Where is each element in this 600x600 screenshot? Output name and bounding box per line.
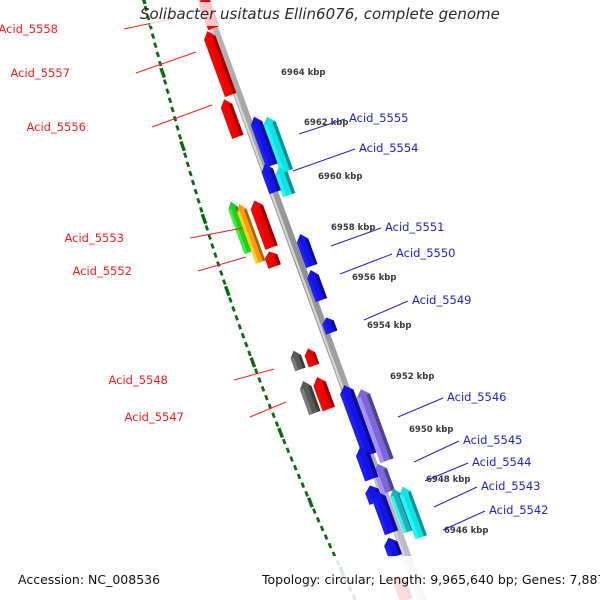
scale-tick-label-0: 6964 kbp (281, 68, 325, 78)
gene-Acid_5548[interactable] (288, 349, 305, 372)
leader-line-Acid_5554 (293, 149, 355, 171)
tick-mark (245, 342, 247, 347)
gene-label-Acid_5545[interactable]: Acid_5545 (463, 433, 523, 447)
tick-mark (291, 457, 293, 462)
tick-mark (249, 351, 251, 356)
tick-mark (229, 298, 231, 303)
tick-mark (152, 34, 154, 39)
leader-line-Acid_5553 (190, 228, 243, 238)
gene-label-Acid_5556[interactable]: Acid_5556 (27, 120, 87, 134)
leader-line-Acid_5546 (398, 398, 443, 417)
tick-mark (161, 68, 164, 77)
tick-mark (154, 43, 156, 48)
gene-label-Acid_5550[interactable]: Acid_5550 (396, 246, 456, 260)
leader-line-Acid_5548 (234, 369, 274, 380)
gene-label-Acid_5548[interactable]: Acid_5548 (109, 373, 169, 387)
tick-mark (215, 253, 217, 258)
tick-mark (321, 526, 323, 531)
tick-mark (217, 262, 219, 267)
gene-label-Acid_5542[interactable]: Acid_5542 (489, 503, 549, 517)
scale-tick-label-4: 6956 kbp (352, 273, 396, 283)
tick-mark (223, 280, 225, 285)
gene-label-Acid_5547[interactable]: Acid_5547 (125, 410, 185, 424)
tick-mark (313, 509, 315, 514)
tick-mark (177, 125, 179, 130)
scale-tick-label-6: 6952 kbp (390, 372, 434, 382)
genome-map-svg[interactable]: 6964 kbp6962 kbp6960 kbp6958 kbp6956 kbp… (0, 0, 600, 600)
leader-line-Acid_5556 (152, 105, 212, 127)
tick-mark (298, 474, 300, 479)
gene-label-Acid_5546[interactable]: Acid_5546 (447, 390, 507, 404)
leader-line-Acid_5549 (364, 301, 408, 320)
leader-line-Acid_5543 (434, 487, 477, 507)
gene-g_red_mid2[interactable] (263, 249, 281, 268)
gene-label-Acid_5557[interactable]: Acid_5557 (11, 66, 71, 80)
gene-label-Acid_5552[interactable]: Acid_5552 (73, 264, 133, 278)
tick-mark (325, 535, 327, 540)
leader-line-Acid_5557 (136, 52, 196, 73)
tick-mark (306, 491, 308, 496)
gene-label-Acid_5551[interactable]: Acid_5551 (385, 220, 445, 234)
tick-mark (255, 369, 257, 374)
tick-mark (279, 428, 282, 437)
leader-line-Acid_5550 (340, 254, 392, 274)
gene-label-Acid_5544[interactable]: Acid_5544 (472, 455, 532, 469)
tick-mark (226, 286, 229, 295)
tick-mark (317, 517, 319, 522)
tick-mark (198, 198, 200, 203)
tick-mark (167, 89, 169, 94)
scale-tick-label-2: 6960 kbp (318, 172, 362, 182)
tick-mark (169, 98, 171, 103)
tick-mark (287, 448, 289, 453)
leader-line-Acid_5552 (198, 257, 246, 271)
gene-g_red_548[interactable] (303, 347, 320, 368)
tick-mark (212, 244, 214, 249)
tick-mark (239, 324, 241, 329)
tick-mark (159, 61, 161, 66)
scale-tick-label-7: 6950 kbp (409, 425, 453, 435)
scale-tick-label-9: 6946 kbp (444, 526, 488, 536)
tick-mark (142, 0, 145, 4)
gene-label-Acid_5549[interactable]: Acid_5549 (412, 293, 472, 307)
tick-mark (236, 315, 238, 320)
gene-labels[interactable]: Acid_5558Acid_5557Acid_5556Acid_5553Acid… (0, 22, 549, 517)
tick-mark (283, 439, 285, 444)
scale-tick-label-5: 6954 kbp (367, 321, 411, 331)
tick-mark (202, 214, 205, 223)
tick-mark (187, 162, 189, 167)
tick-mark (164, 80, 166, 85)
tick-mark (262, 386, 264, 391)
tick-mark (184, 153, 186, 158)
tick-mark (266, 395, 268, 400)
tick-mark (206, 226, 208, 231)
tick-mark (209, 235, 211, 240)
scale-tick-label-8: 6948 kbp (426, 475, 470, 485)
gene-label-Acid_5555[interactable]: Acid_5555 (349, 111, 409, 125)
gene-label-Acid_5554[interactable]: Acid_5554 (359, 141, 419, 155)
tick-mark (309, 498, 312, 507)
tick-mark (329, 543, 331, 548)
tick-mark (233, 306, 235, 311)
tick-mark (200, 207, 202, 212)
tick-mark (181, 141, 184, 150)
tick-mark (276, 422, 278, 427)
tick-mark (242, 333, 244, 338)
tick-mark (273, 413, 275, 418)
gene-label-Acid_5553[interactable]: Acid_5553 (65, 231, 125, 245)
scale-tick-label-1: 6962 kbp (304, 118, 348, 128)
tick-mark (157, 52, 159, 57)
leader-line-Acid_5545 (414, 441, 459, 462)
gene-label-Acid_5543[interactable]: Acid_5543 (481, 479, 541, 493)
genome-stats-text: Topology: circular; Length: 9,965,640 bp… (261, 572, 600, 587)
tick-mark (220, 271, 222, 276)
leader-line-Acid_5547 (250, 402, 286, 417)
gene-label-Acid_5558[interactable]: Acid_5558 (0, 22, 58, 36)
tick-mark (192, 180, 194, 185)
tick-mark (259, 378, 261, 383)
scale-tick-label-3: 6958 kbp (331, 223, 375, 233)
tick-mark (251, 358, 254, 367)
tick-mark (294, 465, 296, 470)
accession-text: Accession: NC_008536 (18, 572, 160, 587)
tick-mark (179, 135, 181, 140)
tick-mark (302, 483, 304, 488)
page-title: Solibacter usitatus Ellin6076, complete … (140, 5, 500, 23)
tick-mark (190, 171, 192, 176)
genome-diagram-canvas: 6964 kbp6962 kbp6960 kbp6958 kbp6956 kbp… (0, 0, 600, 600)
tick-mark (195, 189, 197, 194)
tick-mark (172, 107, 174, 112)
